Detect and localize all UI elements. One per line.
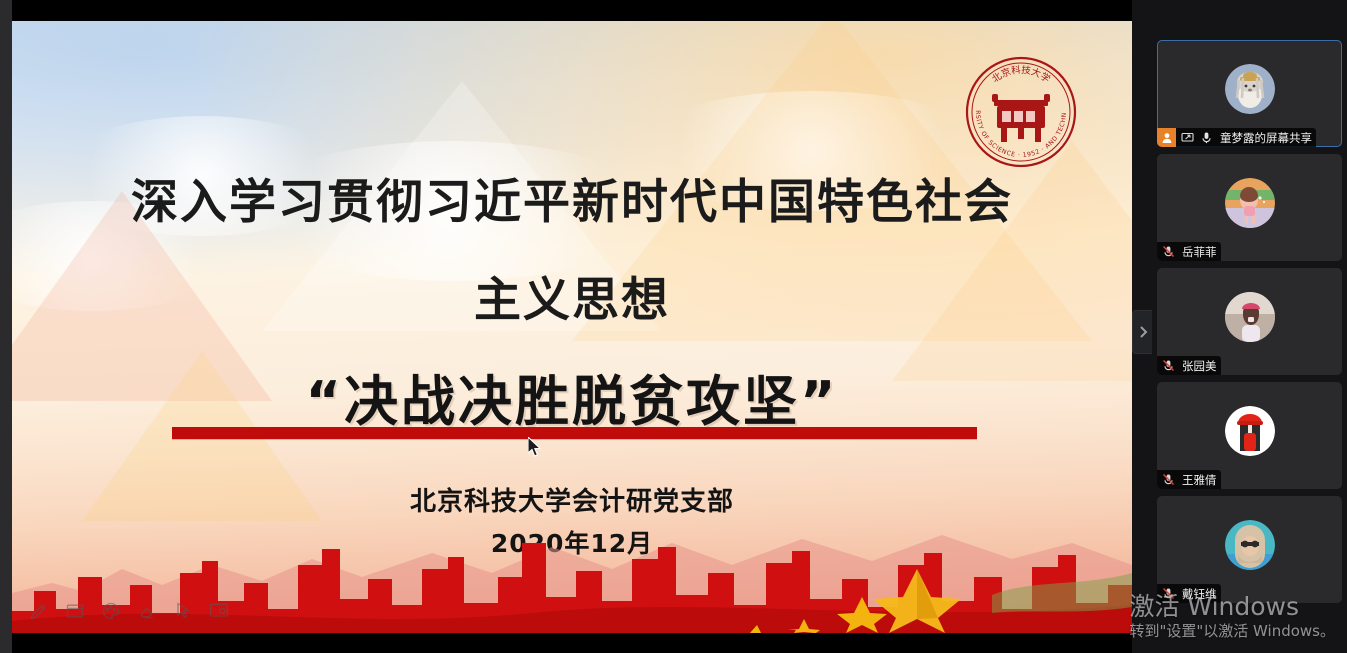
participant-tile[interactable]: 戴钰维 (1157, 496, 1342, 603)
participant-filmstrip[interactable]: 童梦露的屏幕共享 (1152, 0, 1347, 653)
palette-icon[interactable] (98, 599, 124, 623)
slide-title-line-1: 深入学习贯彻习近平新时代中国特色社会 (12, 163, 1132, 232)
participant-name: 童梦露的屏幕共享 (1218, 130, 1312, 146)
presentation-slide: 北京科技大学 UNIVERSITY OF SCIENCE · 1952 · AN… (12, 21, 1132, 633)
participant-name: 岳菲菲 (1180, 244, 1217, 260)
microphone-muted-icon (1161, 244, 1176, 259)
avatar (1225, 520, 1275, 570)
red-underline-rule (172, 427, 977, 439)
participant-tile[interactable]: 王雅倩 (1157, 382, 1342, 489)
slide-title-line-2: 主义思想 (12, 261, 1132, 330)
microphone-icon (1199, 130, 1214, 145)
microphone-muted-icon (1161, 358, 1176, 373)
participant-name-bar: 童梦露的屏幕共享 (1157, 128, 1316, 147)
avatar (1225, 406, 1275, 456)
collapse-panel-button[interactable] (1132, 310, 1152, 354)
participant-name-bar: 岳菲菲 (1157, 242, 1221, 261)
host-icon (1157, 128, 1176, 147)
microphone-muted-icon (1161, 472, 1176, 487)
filmstrip-top-spacer (1157, 0, 1342, 40)
participant-tile[interactable]: 童梦露的屏幕共享 (1157, 40, 1342, 147)
participant-name-bar: 张园美 (1157, 356, 1221, 375)
participant-tile[interactable]: 张园美 (1157, 268, 1342, 375)
settings-screen-icon[interactable] (206, 599, 232, 623)
participant-name: 王雅倩 (1180, 472, 1217, 488)
screen-share-icon (1180, 130, 1195, 145)
meeting-window: 北京科技大学 UNIVERSITY OF SCIENCE · 1952 · AN… (0, 0, 1347, 653)
frame-icon[interactable] (62, 599, 88, 623)
pen-icon[interactable] (26, 599, 52, 623)
annotation-toolbar[interactable] (26, 599, 232, 623)
participant-tile[interactable]: 岳菲菲 (1157, 154, 1342, 261)
cursor-icon[interactable] (170, 599, 196, 623)
microphone-muted-icon (1161, 586, 1176, 601)
participant-name-bar: 王雅倩 (1157, 470, 1221, 489)
participant-name: 张园美 (1180, 358, 1217, 374)
chevron-right-icon (1138, 325, 1148, 339)
avatar (1225, 178, 1275, 228)
shared-screen-region[interactable]: 北京科技大学 UNIVERSITY OF SCIENCE · 1952 · AN… (0, 0, 1132, 653)
participant-name-bar: 戴钰维 (1157, 584, 1221, 603)
avatar (1225, 292, 1275, 342)
share-left-strip (0, 0, 12, 653)
avatar (1225, 64, 1275, 114)
mouse-cursor (528, 437, 542, 457)
participant-name: 戴钰维 (1180, 586, 1217, 602)
eraser-icon[interactable] (134, 599, 160, 623)
slide-subtitle: “决战决胜脱贫攻坚” (12, 357, 1132, 436)
